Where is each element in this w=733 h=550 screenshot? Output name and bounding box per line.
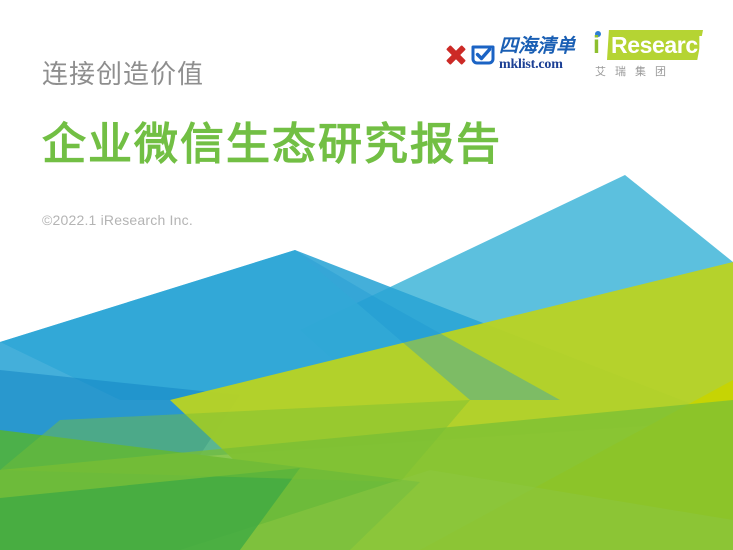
iresearch-chinese-name: 艾瑞集团: [595, 63, 675, 79]
slide-subtitle: 连接创造价值: [42, 54, 204, 91]
mklist-domain: mklist.com: [499, 58, 575, 72]
report-cover-slide: 连接创造价值 企业微信生态研究报告 ©2022.1 iResearch Inc.…: [0, 0, 733, 550]
red-x-icon: [445, 44, 467, 66]
cover-content: 连接创造价值 企业微信生态研究报告 ©2022.1 iResearch Inc.…: [0, 0, 733, 550]
iresearch-logo[interactable]: i Research 艾瑞集团: [593, 30, 703, 79]
iresearch-research-word: Research: [611, 33, 711, 57]
slide-title: 企业微信生态研究报告: [42, 108, 502, 172]
iresearch-i-letter: i: [593, 33, 600, 58]
mklist-text-block: 四海清单 mklist.com: [499, 37, 575, 72]
iresearch-wordmark: i Research: [593, 30, 703, 60]
blue-check-shield-icon: [470, 42, 496, 68]
mklist-chinese-name: 四海清单: [499, 37, 575, 56]
logo-bar: 四海清单 mklist.com i Research 艾瑞集团: [445, 30, 703, 79]
mklist-logo[interactable]: 四海清单 mklist.com: [445, 37, 575, 72]
copyright-text: ©2022.1 iResearch Inc.: [42, 212, 193, 228]
